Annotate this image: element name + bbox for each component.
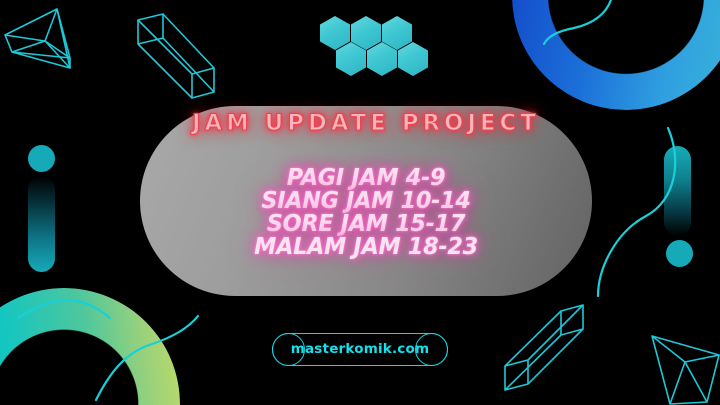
exclamation-dot-icon xyxy=(666,240,693,267)
wireframe-prism-icon xyxy=(138,14,214,98)
ring-bottom-left-icon xyxy=(0,288,180,405)
letter-i-dot-icon xyxy=(28,145,55,172)
wireframe-prism-icon xyxy=(505,305,583,390)
hexagon-icon xyxy=(351,16,381,50)
page-title: JAM UPDATE PROJECT xyxy=(140,112,592,135)
letter-i-bar-icon xyxy=(28,176,55,272)
hexagon-icon xyxy=(398,42,428,76)
hexagon-icon xyxy=(336,42,366,76)
poster-canvas: JAM UPDATE PROJECT PAGI JAM 4-9 SIANG JA… xyxy=(0,0,720,405)
wireframe-tetrahedron-icon xyxy=(5,9,70,68)
page-title-text: JAM UPDATE PROJECT xyxy=(192,110,540,136)
exclamation-bar-icon xyxy=(664,146,691,236)
schedule-item: MALAM JAM 18-23 xyxy=(189,235,542,258)
wireframe-tetrahedron-icon xyxy=(652,336,719,404)
hexagon-icon xyxy=(382,16,412,50)
schedule-list: PAGI JAM 4-9 SIANG JAM 10-14 SORE JAM 15… xyxy=(189,166,542,258)
website-url[interactable]: masterkomik.com xyxy=(272,341,448,357)
hexagon-icon xyxy=(367,42,397,76)
hexagon-icon xyxy=(320,16,350,50)
ring-top-right-icon xyxy=(512,0,720,110)
